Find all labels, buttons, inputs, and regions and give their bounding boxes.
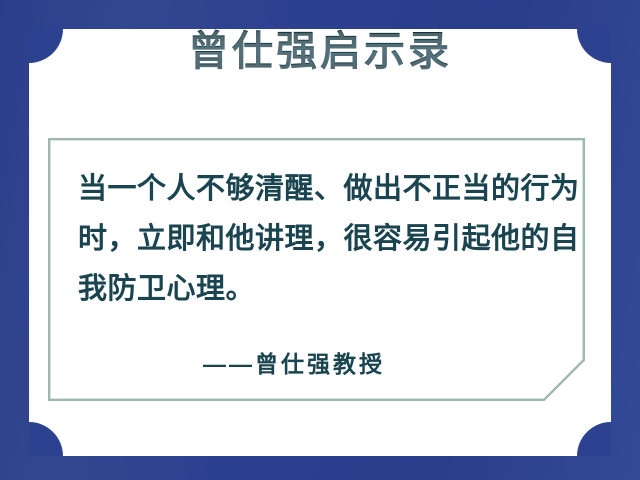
quote-text-block: 当一个人不够清醒、做出不正当的行为 时，立即和他讲理，很容易引起他的自 我防卫心… bbox=[78, 164, 568, 314]
quote-poster: 曾仕强启示录 当一个人不够清醒、做出不正当的行为 时，立即和他讲理，很容易引起他… bbox=[0, 0, 640, 480]
quote-line: 时，立即和他讲理，很容易引起他的自 bbox=[78, 214, 568, 264]
quote-line: 当一个人不够清醒、做出不正当的行为 bbox=[78, 164, 568, 214]
poster-title: 曾仕强启示录 bbox=[0, 28, 640, 75]
quote-attribution: ——曾仕强教授 bbox=[78, 345, 510, 379]
quote-line: 我防卫心理。 bbox=[78, 264, 568, 314]
